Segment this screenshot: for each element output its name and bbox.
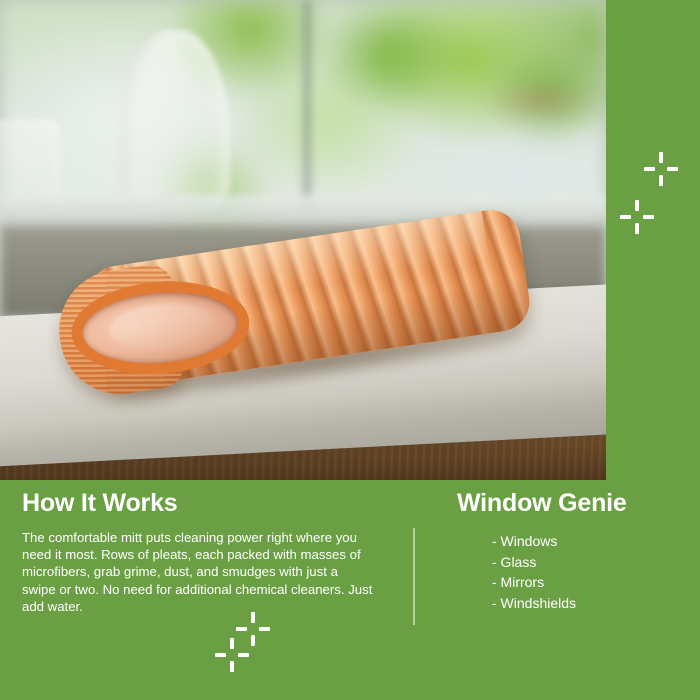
infographic-canvas: How It Works The comfortable mitt puts c… [0, 0, 700, 700]
window-genie-heading: Window Genie [457, 489, 627, 518]
how-it-works-heading: How It Works [22, 489, 178, 518]
plus-arm-left [620, 215, 631, 219]
plus-decoration-icon [644, 152, 678, 186]
services-list: - Windows - Glass - Mirrors - Windshield… [492, 531, 576, 613]
plus-arm-top [635, 200, 639, 211]
right-green-strip [606, 0, 700, 480]
plus-arm-top [230, 638, 234, 649]
plus-arm-bottom [659, 175, 663, 186]
how-it-works-body-text: The comfortable mitt puts cleaning power… [22, 529, 374, 615]
plus-arm-left [236, 627, 247, 631]
glass-vase [120, 30, 230, 215]
plus-arm-left [215, 653, 226, 657]
list-item: - Windows [492, 531, 576, 552]
plus-arm-left [644, 167, 655, 171]
list-item: - Glass [492, 552, 576, 573]
plus-arm-bottom [230, 661, 234, 672]
background-red-blur [470, 80, 606, 120]
plus-arm-right [238, 653, 249, 657]
foliage-blur-a [300, 0, 480, 130]
column-divider [413, 528, 415, 625]
plus-decoration-icon [215, 638, 249, 672]
window-mullion [300, 0, 314, 210]
plus-arm-right [643, 215, 654, 219]
list-item: - Mirrors [492, 572, 576, 593]
list-item: - Windshields [492, 593, 576, 614]
plus-arm-top [659, 152, 663, 163]
plus-arm-bottom [251, 635, 255, 646]
plus-arm-bottom [635, 223, 639, 234]
product-photo [0, 0, 606, 480]
plus-arm-right [259, 627, 270, 631]
plus-arm-right [667, 167, 678, 171]
plus-decoration-icon [620, 200, 654, 234]
